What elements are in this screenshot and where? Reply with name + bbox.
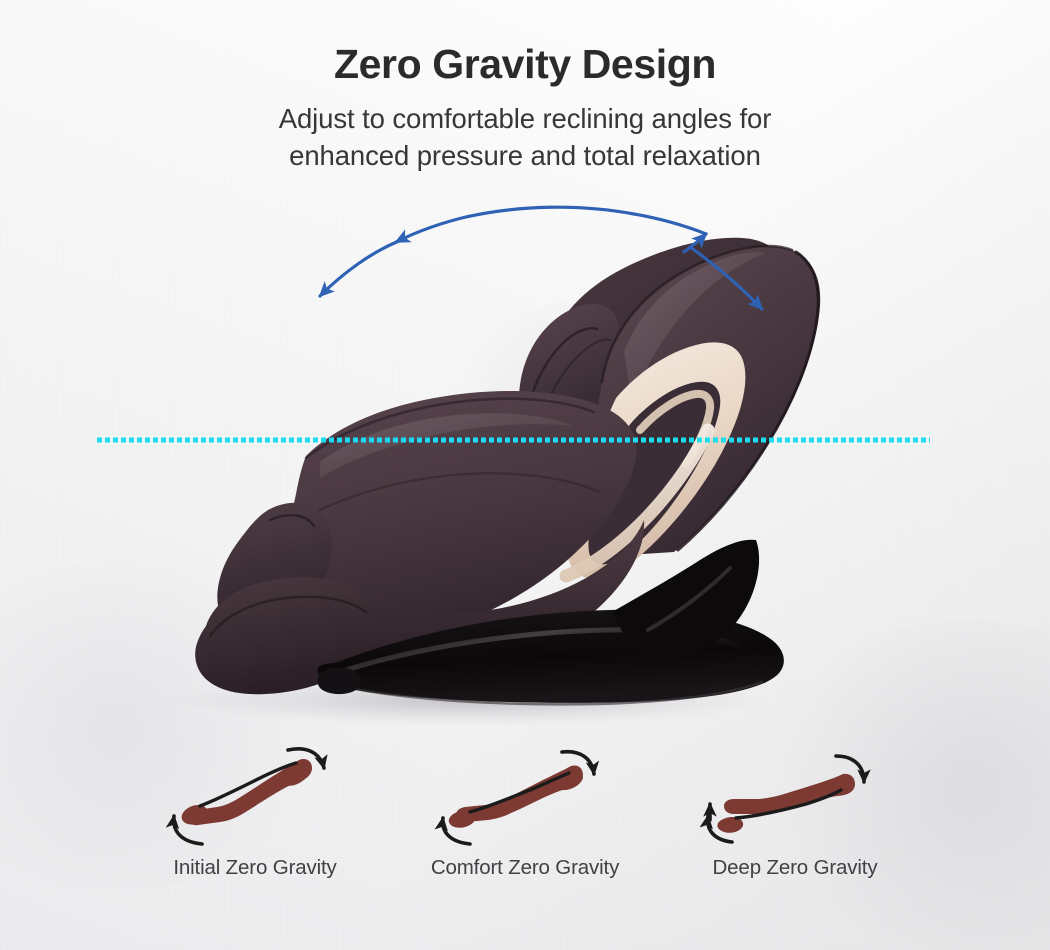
chair-base-front-rail xyxy=(340,630,756,672)
chair-headrest-seam-2 xyxy=(540,340,610,424)
chair-headrest-pillow xyxy=(519,304,620,431)
page-title: Zero Gravity Design xyxy=(0,42,1050,88)
recline-arc-left-inward xyxy=(396,216,470,242)
chair-base xyxy=(317,610,783,703)
page-subtitle-line-2: enhanced pressure and total relaxation xyxy=(0,137,1050,174)
chair-armrest-seam xyxy=(270,515,314,526)
reclining-figure-icon xyxy=(160,742,350,850)
chair-seat-mid-seam xyxy=(300,473,600,520)
header-block: Zero Gravity Design Adjust to comfortabl… xyxy=(0,42,1050,175)
pose-figure-initial xyxy=(182,759,312,825)
pose-figure-comfort xyxy=(449,765,583,827)
page-subtitle-line-1: Adjust to comfortable reclining angles f… xyxy=(279,103,772,134)
page-subtitle: Adjust to comfortable reclining angles f… xyxy=(0,100,1050,175)
chair-backrest-far-wing xyxy=(548,238,787,432)
mode-item-deep[interactable]: Deep Zero Gravity xyxy=(660,742,930,907)
chair-base-riser xyxy=(612,540,759,666)
chair-backrest-edge-seam xyxy=(678,252,818,550)
zero-gravity-modes-row: Initial Zero Gravity Comfort Zero Gravit… xyxy=(120,742,930,907)
chair-backrest-sheen xyxy=(624,252,766,404)
pose-figure-deep xyxy=(717,774,855,833)
chair-headrest-seam xyxy=(529,328,597,406)
mode-label-deep: Deep Zero Gravity xyxy=(713,856,878,880)
recline-arc-span xyxy=(466,207,706,234)
chair-footrest xyxy=(195,577,384,694)
chair-backrest-outline xyxy=(602,246,792,382)
chair-backrest xyxy=(594,246,821,556)
recline-arc-left-tail xyxy=(320,241,399,296)
recline-arc-right-inward xyxy=(684,234,706,252)
chair-armrest xyxy=(217,503,332,635)
chair-accent-lower-stripe xyxy=(566,430,708,576)
chair-seat-skirt xyxy=(297,520,645,670)
mode-label-comfort: Comfort Zero Gravity xyxy=(431,856,619,880)
floor-shadow xyxy=(170,674,770,726)
chair-accent-inner-highlight xyxy=(640,394,710,464)
mode-label-initial: Initial Zero Gravity xyxy=(173,856,336,880)
recline-arc-arrow xyxy=(320,207,762,309)
chair-base-front-foot xyxy=(318,668,361,695)
mode-item-initial[interactable]: Initial Zero Gravity xyxy=(120,742,390,907)
massage-chair xyxy=(195,238,820,705)
chair-accent-panel xyxy=(567,342,745,578)
reclining-figure-icon xyxy=(430,742,620,850)
zero-gravity-design-banner: Zero Gravity Design Adjust to comfortabl… xyxy=(0,0,1050,950)
reclining-figure-icon xyxy=(700,742,890,850)
mode-item-comfort[interactable]: Comfort Zero Gravity xyxy=(390,742,660,907)
chair-base-lower-rail xyxy=(330,682,762,704)
chair-seat-sheen xyxy=(320,413,574,478)
recline-arc-right-tail xyxy=(690,247,762,309)
chair-footrest-seam xyxy=(210,597,366,636)
chair-accent-inner-insert xyxy=(588,382,720,565)
chair-seat-top-seam xyxy=(306,399,594,458)
chair-seat-cushion xyxy=(288,391,637,644)
background-texture-blotch xyxy=(430,300,760,540)
chair-base-riser-sheen xyxy=(648,568,730,630)
